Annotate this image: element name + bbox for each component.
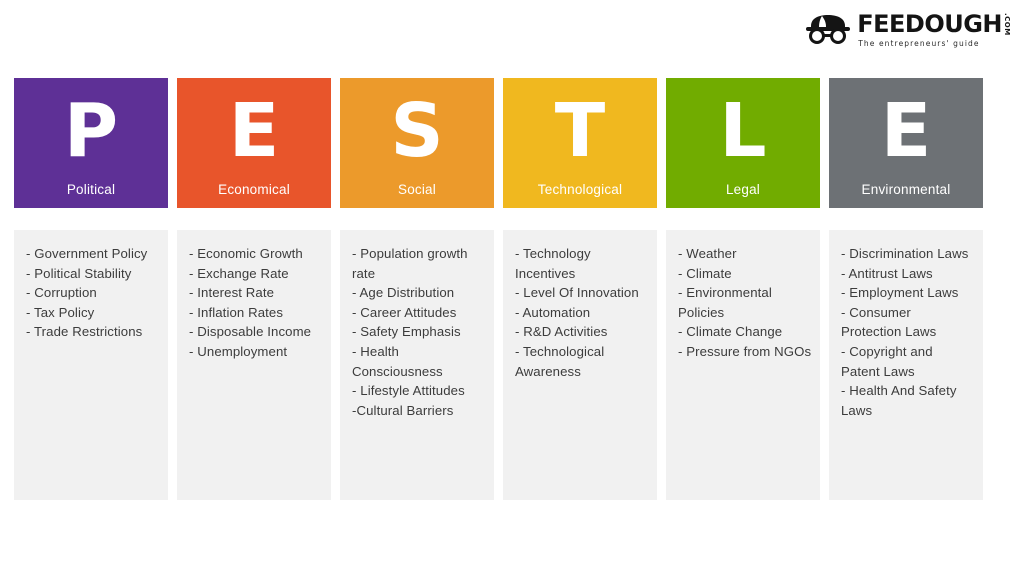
factor-list-economical: - Economic Growth - Exchange Rate - Inte… — [189, 244, 323, 362]
column-letter-political: P — [64, 94, 118, 168]
list-item: - Pressure from NGOs — [678, 342, 812, 362]
list-item: - Technological Awareness — [515, 342, 649, 381]
list-item: - Antitrust Laws — [841, 264, 975, 284]
list-item: - Climate Change — [678, 322, 812, 342]
column-body-political: - Government Policy - Political Stabilit… — [14, 230, 168, 500]
list-item: - Exchange Rate — [189, 264, 323, 284]
pestle-column-economical: E Economical - Economic Growth - Exchang… — [177, 78, 331, 500]
list-item: - Lifestyle Attitudes — [352, 381, 486, 401]
column-header-economical: E Economical — [177, 78, 331, 208]
column-label-political: Political — [14, 182, 168, 197]
column-header-environmental: E Environmental — [829, 78, 983, 208]
list-item: - Political Stability — [26, 264, 160, 284]
pestle-column-technological: T Technological - Technology Incentives … — [503, 78, 657, 500]
column-header-political: P Political — [14, 78, 168, 208]
list-item: - Government Policy — [26, 244, 160, 264]
column-header-social: S Social — [340, 78, 494, 208]
column-letter-environmental: E — [881, 94, 932, 168]
glasses-face-icon — [805, 15, 851, 45]
feedough-logo: FEEDOUGH .COM The entrepreneurs' guide — [805, 12, 1010, 48]
list-item: - Level Of Innovation — [515, 283, 649, 303]
column-body-economical: - Economic Growth - Exchange Rate - Inte… — [177, 230, 331, 500]
list-item: - Population growth rate — [352, 244, 486, 283]
list-item: - Consumer Protection Laws — [841, 303, 975, 342]
list-item: - Environmental Policies — [678, 283, 812, 322]
factor-list-legal: - Weather - Climate - Environmental Poli… — [678, 244, 812, 362]
column-body-social: - Population growth rate - Age Distribut… — [340, 230, 494, 500]
column-label-economical: Economical — [177, 182, 331, 197]
factor-list-political: - Government Policy - Political Stabilit… — [26, 244, 160, 342]
list-item: - Corruption — [26, 283, 160, 303]
brand-wordmark: FEEDOUGH — [857, 12, 1002, 36]
column-label-technological: Technological — [503, 182, 657, 197]
list-item: -Cultural Barriers — [352, 401, 486, 421]
pestle-column-environmental: E Environmental - Discrimination Laws - … — [829, 78, 983, 500]
list-item: - Trade Restrictions — [26, 322, 160, 342]
list-item: - Inflation Rates — [189, 303, 323, 323]
list-item: - Climate — [678, 264, 812, 284]
list-item: - Economic Growth — [189, 244, 323, 264]
brand-tagline: The entrepreneurs' guide — [858, 39, 979, 48]
column-body-technological: - Technology Incentives - Level Of Innov… — [503, 230, 657, 500]
list-item: - Disposable Income — [189, 322, 323, 342]
column-body-environmental: - Discrimination Laws - Antitrust Laws -… — [829, 230, 983, 500]
column-label-legal: Legal — [666, 182, 820, 197]
pestle-column-political: P Political - Government Policy - Politi… — [14, 78, 168, 500]
list-item: - Unemployment — [189, 342, 323, 362]
column-letter-technological: T — [555, 94, 605, 168]
column-header-technological: T Technological — [503, 78, 657, 208]
pestle-column-legal: L Legal - Weather - Climate - Environmen… — [666, 78, 820, 500]
factor-list-social: - Population growth rate - Age Distribut… — [352, 244, 486, 420]
list-item: - Copyright and Patent Laws — [841, 342, 975, 381]
list-item: - Safety Emphasis — [352, 322, 486, 342]
list-item: - Tax Policy — [26, 303, 160, 323]
list-item: - Health And Safety Laws — [841, 381, 975, 420]
column-letter-legal: L — [719, 94, 766, 168]
list-item: - Discrimination Laws — [841, 244, 975, 264]
pestle-column-social: S Social - Population growth rate - Age … — [340, 78, 494, 500]
column-header-legal: L Legal — [666, 78, 820, 208]
list-item: - Health Consciousness — [352, 342, 486, 381]
list-item: - Career Attitudes — [352, 303, 486, 323]
column-letter-social: S — [390, 94, 443, 168]
list-item: - R&D Activities — [515, 322, 649, 342]
pestle-grid: P Political - Government Policy - Politi… — [14, 78, 1010, 500]
list-item: - Automation — [515, 303, 649, 323]
factor-list-environmental: - Discrimination Laws - Antitrust Laws -… — [841, 244, 975, 420]
list-item: - Weather — [678, 244, 812, 264]
factor-list-technological: - Technology Incentives - Level Of Innov… — [515, 244, 649, 381]
column-label-environmental: Environmental — [829, 182, 983, 197]
list-item: - Employment Laws — [841, 283, 975, 303]
brand-text: FEEDOUGH .COM The entrepreneurs' guide — [857, 12, 1010, 48]
brand-tld: .COM — [1003, 13, 1010, 36]
column-label-social: Social — [340, 182, 494, 197]
column-body-legal: - Weather - Climate - Environmental Poli… — [666, 230, 820, 500]
list-item: - Age Distribution — [352, 283, 486, 303]
list-item: - Interest Rate — [189, 283, 323, 303]
list-item: - Technology Incentives — [515, 244, 649, 283]
column-letter-economical: E — [229, 94, 280, 168]
